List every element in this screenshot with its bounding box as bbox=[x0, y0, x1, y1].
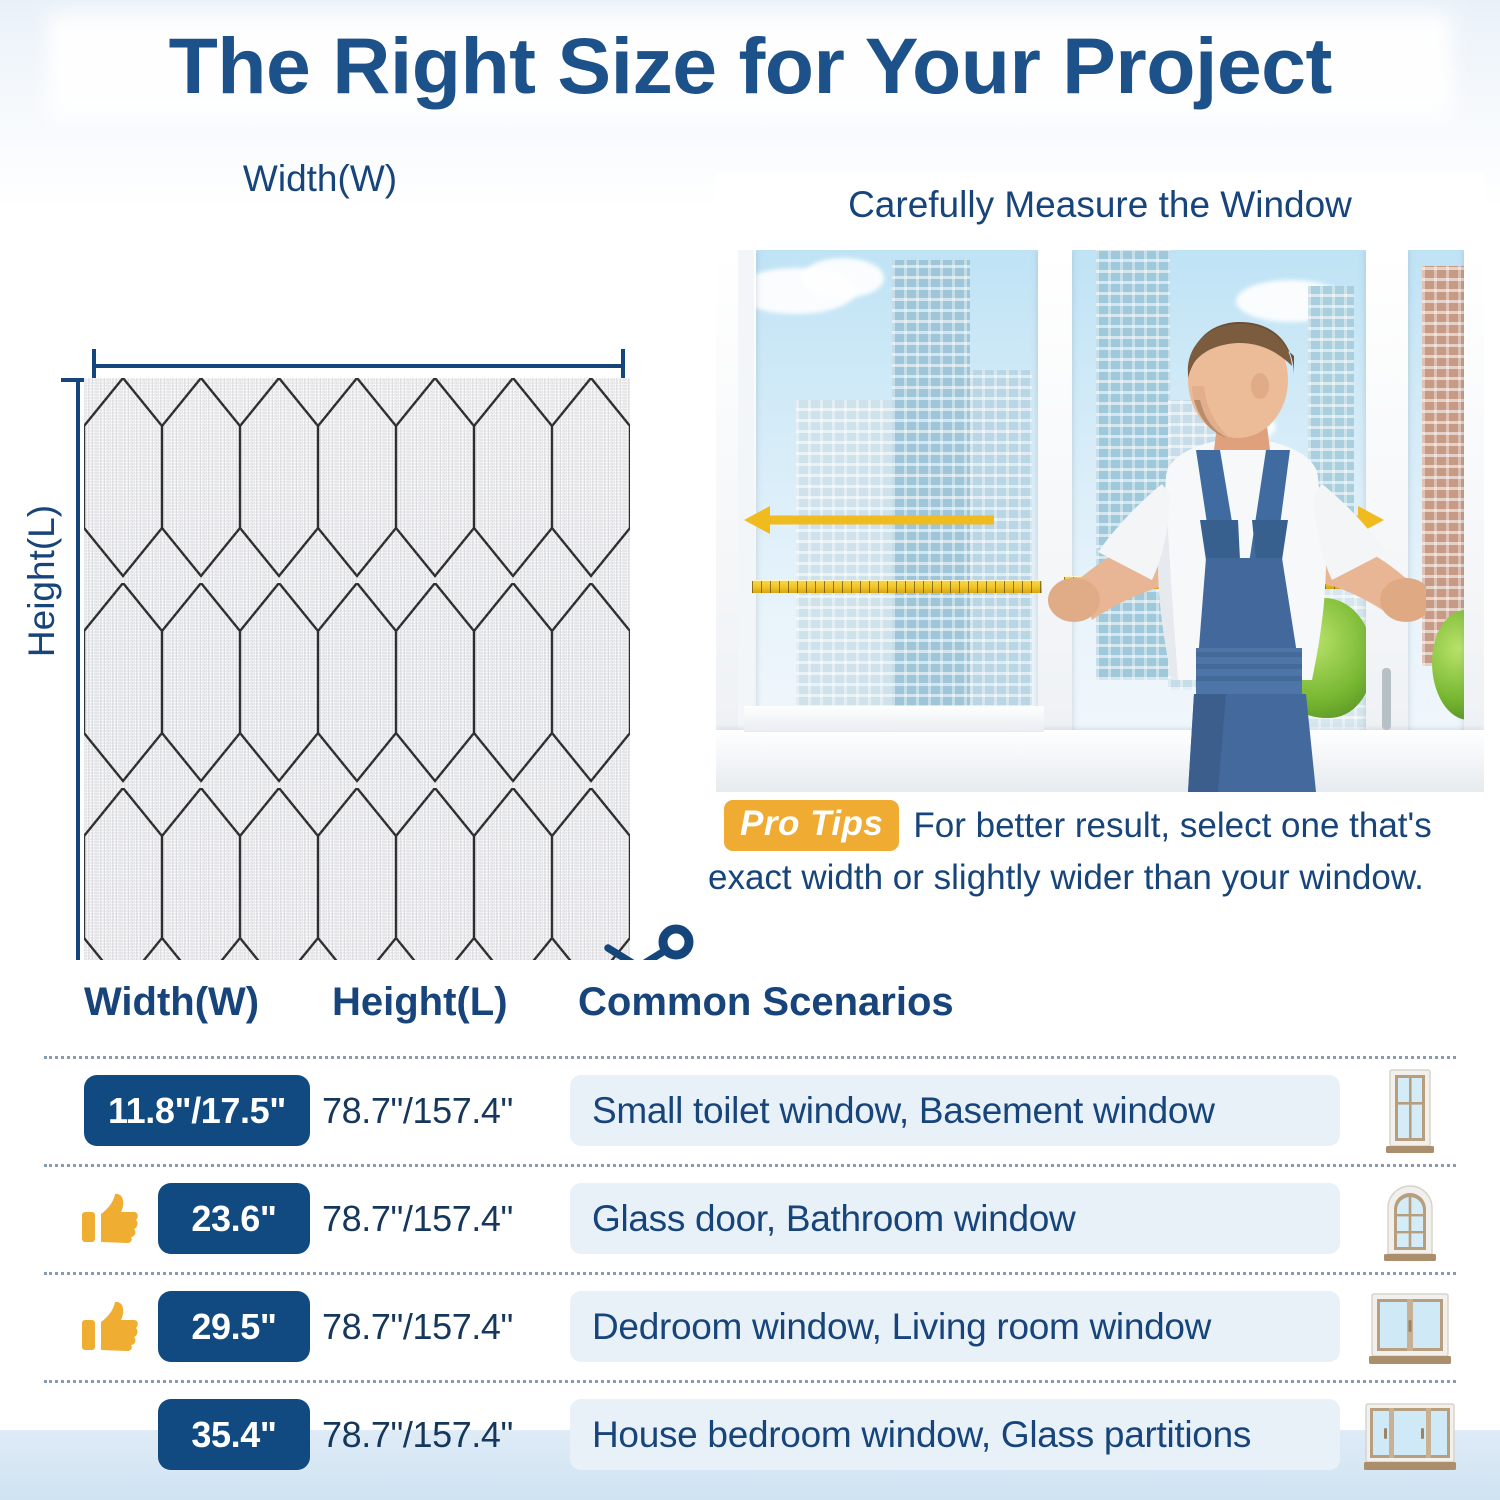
pro-tips-text-1: For better result, select one that's bbox=[913, 806, 1431, 846]
pro-tips-text-2: exact width or slightly wider than your … bbox=[708, 858, 1424, 898]
scenario-text: House bedroom window, Glass partitions bbox=[570, 1399, 1340, 1470]
cloud bbox=[802, 258, 884, 298]
width-badge[interactable]: 29.5" bbox=[158, 1291, 310, 1362]
window-arched-icon bbox=[1364, 1174, 1456, 1266]
window-sash-left bbox=[738, 250, 754, 750]
window-frame-far-right bbox=[1464, 250, 1484, 750]
table-header-row: Width(W) Height(L) Common Scenarios bbox=[0, 980, 1500, 1042]
film-dimension-diagram: Width(W) Height(L) bbox=[0, 140, 700, 970]
table-row[interactable]: 23.6" 78.7"/157.4" Glass door, Bathroom … bbox=[0, 1170, 1500, 1270]
height-value: 78.7"/157.4" bbox=[322, 1291, 562, 1362]
size-table: Width(W) Height(L) Common Scenarios 11.8… bbox=[0, 960, 1500, 1430]
row-separator bbox=[44, 1380, 1456, 1383]
page-title: The Right Size for Your Project bbox=[168, 20, 1331, 112]
scenario-text: Small toilet window, Basement window bbox=[570, 1075, 1340, 1146]
column-header-width: Width(W) bbox=[84, 980, 259, 1025]
table-row[interactable]: 29.5" 78.7"/157.4" Dedroom window, Livin… bbox=[0, 1278, 1500, 1378]
person-measuring bbox=[866, 308, 1426, 792]
height-value: 78.7"/157.4" bbox=[322, 1075, 562, 1146]
measure-photo bbox=[716, 250, 1484, 792]
height-dimension-line bbox=[76, 378, 80, 968]
scenario-text: Glass door, Bathroom window bbox=[570, 1183, 1340, 1254]
row-separator bbox=[44, 1164, 1456, 1167]
height-value: 78.7"/157.4" bbox=[322, 1183, 562, 1254]
height-value: 78.7"/157.4" bbox=[322, 1399, 562, 1470]
row-separator bbox=[44, 1272, 1456, 1275]
width-dimension-line bbox=[92, 364, 625, 368]
width-badge[interactable]: 23.6" bbox=[158, 1183, 310, 1254]
pro-tips-line-1: Pro Tips For better result, select one t… bbox=[724, 800, 1432, 851]
photo-title: Carefully Measure the Window bbox=[716, 184, 1484, 226]
thumbs-up-icon bbox=[80, 1190, 138, 1248]
thumbs-up-icon bbox=[80, 1298, 138, 1356]
window-film-sheet bbox=[84, 378, 630, 1028]
width-badge[interactable]: 35.4" bbox=[158, 1399, 310, 1470]
page-title-bar: The Right Size for Your Project bbox=[0, 0, 1500, 132]
row-separator bbox=[44, 1056, 1456, 1059]
table-row[interactable]: 35.4" 78.7"/157.4" House bedroom window,… bbox=[0, 1386, 1500, 1486]
pro-tips-section: Pro Tips For better result, select one t… bbox=[700, 800, 1500, 920]
window-double-panel-icon bbox=[1364, 1282, 1456, 1374]
width-dimension-text: Width(W) bbox=[243, 158, 397, 199]
pro-tips-badge: Pro Tips bbox=[724, 800, 899, 851]
scenario-text: Dedroom window, Living room window bbox=[570, 1291, 1340, 1362]
window-tall-4pane-icon bbox=[1364, 1066, 1456, 1158]
width-dimension-label: Width(W) bbox=[0, 158, 700, 200]
column-header-height: Height(L) bbox=[332, 980, 508, 1025]
film-pattern bbox=[84, 378, 630, 1028]
window-triple-panel-icon bbox=[1364, 1390, 1456, 1482]
height-dimension-label: Height(L) bbox=[21, 471, 63, 691]
table-row[interactable]: 11.8"/17.5" 78.7"/157.4" Small toilet wi… bbox=[0, 1062, 1500, 1162]
measure-photo-panel: Carefully Measure the Window bbox=[716, 172, 1484, 792]
width-badge[interactable]: 11.8"/17.5" bbox=[84, 1075, 310, 1146]
column-header-scenarios: Common Scenarios bbox=[578, 980, 954, 1025]
